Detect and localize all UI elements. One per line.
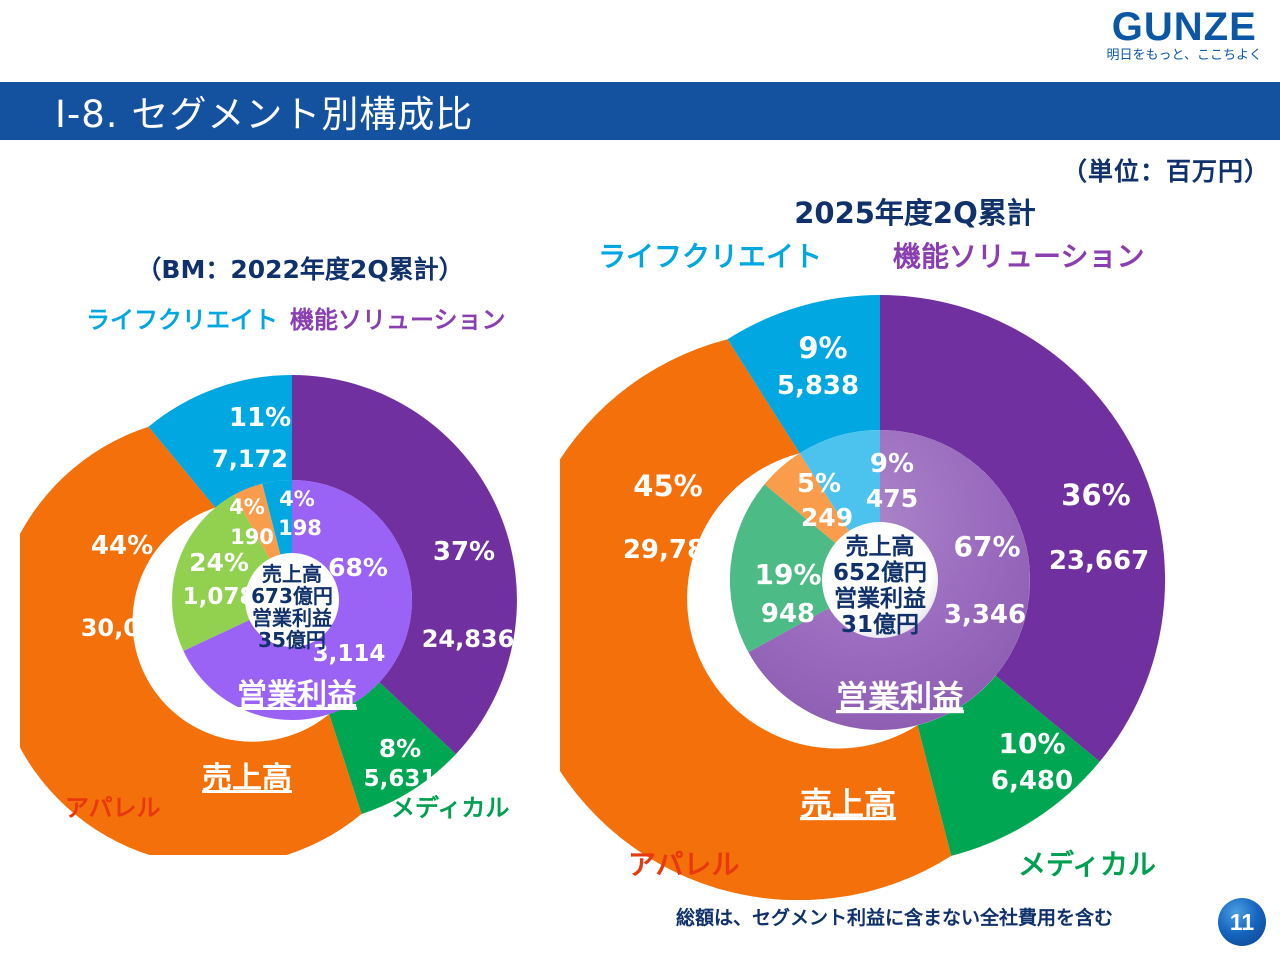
outer-label-pct-apparel-left: 44% [91,531,153,561]
inner-label-pct-apparel-right: 5% [797,469,841,499]
legend-lifecreate-left: ライフクリエイト [86,300,278,335]
legend-apparel-left: アパレル [65,788,161,823]
inner-label-val-lifecreate-right: 475 [866,484,918,513]
inner-ring-name-right: 営業利益 [836,678,964,716]
legend-apparel-right: アパレル [628,843,739,883]
center-line-1-right: 売上高 [846,533,915,560]
unit-note: （単位：百万円） [1062,152,1270,188]
outer-label-val-lifecreate-right: 5,838 [777,371,859,401]
center-line-2-left: 673億円 [251,584,333,608]
logo-wordmark: GUNZE [1107,6,1262,48]
legend-lifecreate-right: ライフクリエイト [598,235,822,275]
outer-label-pct-lifecreate-right: 9% [798,331,847,365]
inner-label-val-lifecreate-left: 198 [278,516,322,540]
inner-label-pct-apparel-left: 4% [229,495,265,519]
outer-label-pct-funcsol-right: 36% [1061,478,1130,512]
center-line-3-right: 営業利益 [834,585,926,612]
center-line-1-left: 売上高 [262,562,322,586]
donut-chart-right: 36% 23,667 10% 6,480 45% 29,785 9% 5,838… [560,280,1260,900]
inner-label-pct-lifecreate-left: 4% [279,487,315,511]
outer-label-val-funcsol-right: 23,667 [1049,546,1149,576]
outer-label-val-apparel-right: 29,785 [623,535,723,565]
center-line-4-right: 31億円 [841,611,919,638]
inner-label-val-funcsol-right: 3,346 [944,600,1026,630]
outer-label-pct-apparel-right: 45% [633,469,702,503]
outer-label-val-funcsol-left: 24,836 [422,625,515,653]
inner-label-val-medical-right: 948 [761,599,815,629]
donut-chart-left: 37% 24,836 8% 5,631 44% 30,082 11% 7,172… [20,335,580,855]
inner-label-pct-funcsol-left: 68% [328,553,388,582]
legend-functional-solution-left: 機能ソリューション [290,300,506,335]
legend-medical-right: メディカル [1018,843,1156,883]
outer-label-pct-medical-right: 10% [998,727,1065,760]
inner-ring-name-left: 営業利益 [237,678,357,713]
inner-label-pct-funcsol-right: 67% [953,530,1020,563]
inner-label-val-medical-left: 1,078 [183,584,256,610]
slide-title-bar: Ⅰ-8. セグメント別構成比 [0,82,1280,140]
center-line-3-left: 営業利益 [252,606,332,630]
chart-right-subtitle: 2025年度2Q累計 [695,190,1135,232]
inner-label-val-apparel-right: 249 [801,503,853,532]
page-title: Ⅰ-8. セグメント別構成比 [55,84,473,138]
center-line-2-right: 652億円 [833,559,927,586]
outer-label-val-lifecreate-left: 7,172 [212,445,288,473]
legend-functional-solution-right: 機能ソリューション [893,235,1144,275]
chart-panel-left: （BM：2022年度2Q累計） ライフクリエイト 機能ソリューション [20,240,580,860]
inner-label-pct-lifecreate-right: 9% [870,449,914,479]
gunze-logo: GUNZE 明日をもっと、ここちよく [1107,6,1262,64]
outer-label-pct-medical-left: 8% [379,734,421,763]
inner-label-pct-medical-right: 19% [754,558,821,591]
outer-label-pct-funcsol-left: 37% [433,537,495,567]
page-number-badge: 11 [1218,898,1266,946]
chart-left-subtitle: （BM：2022年度2Q累計） [20,250,580,286]
outer-ring-name-right: 売上高 [800,785,896,823]
outer-label-val-apparel-left: 30,082 [81,614,174,642]
chart-panel-right: 2025年度2Q累計 ライフクリエイト 機能ソリューション [560,185,1260,885]
footnote: 総額は、セグメント利益に含まない全社費用を含む [676,903,1113,930]
inner-label-pct-medical-left: 24% [189,548,249,577]
outer-ring-name-left: 売上高 [202,761,292,796]
center-line-4-left: 35億円 [258,628,326,652]
logo-tagline: 明日をもっと、ここちよく [1107,48,1262,64]
inner-label-val-apparel-left: 190 [230,525,274,549]
legend-medical-left: メディカル [391,788,509,823]
outer-label-pct-lifecreate-left: 11% [229,403,291,433]
outer-label-val-medical-right: 6,480 [991,766,1073,796]
